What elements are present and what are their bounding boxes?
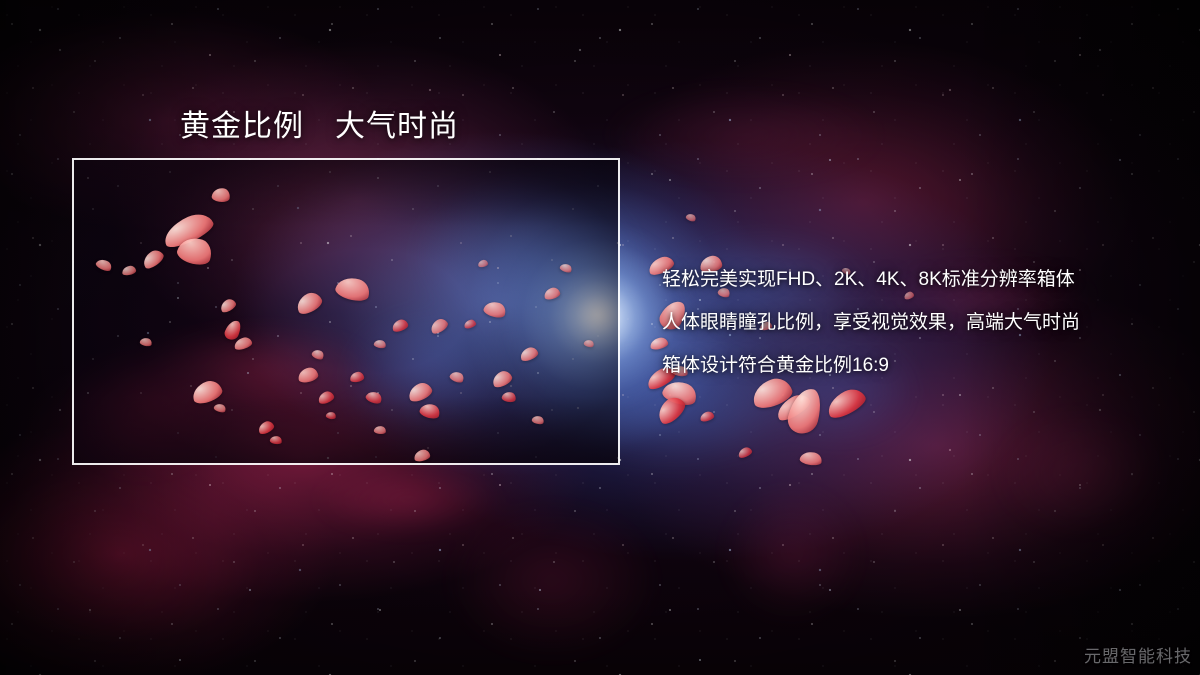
framed-image-panel[interactable] <box>72 158 620 465</box>
body-line-2: 人体眼睛瞳孔比例，享受视觉效果，高端大气时尚 <box>662 301 1080 344</box>
watermark: 元盟智能科技 <box>1084 642 1192 667</box>
body-line-3: 箱体设计符合黄金比例16:9 <box>662 344 1080 387</box>
panel-image <box>74 160 618 463</box>
page-title: 黄金比例 大气时尚 <box>180 101 459 145</box>
body-text-block: 轻松完美实现FHD、2K、4K、8K标准分辨率箱体 人体眼睛瞳孔比例，享受视觉效… <box>662 258 1080 387</box>
body-line-1: 轻松完美实现FHD、2K、4K、8K标准分辨率箱体 <box>662 258 1080 301</box>
slide-canvas: 黄金比例 大气时尚 轻松完美实现FHD、2K、4K、8K标准分辨率箱体 人体眼睛… <box>0 0 1200 675</box>
